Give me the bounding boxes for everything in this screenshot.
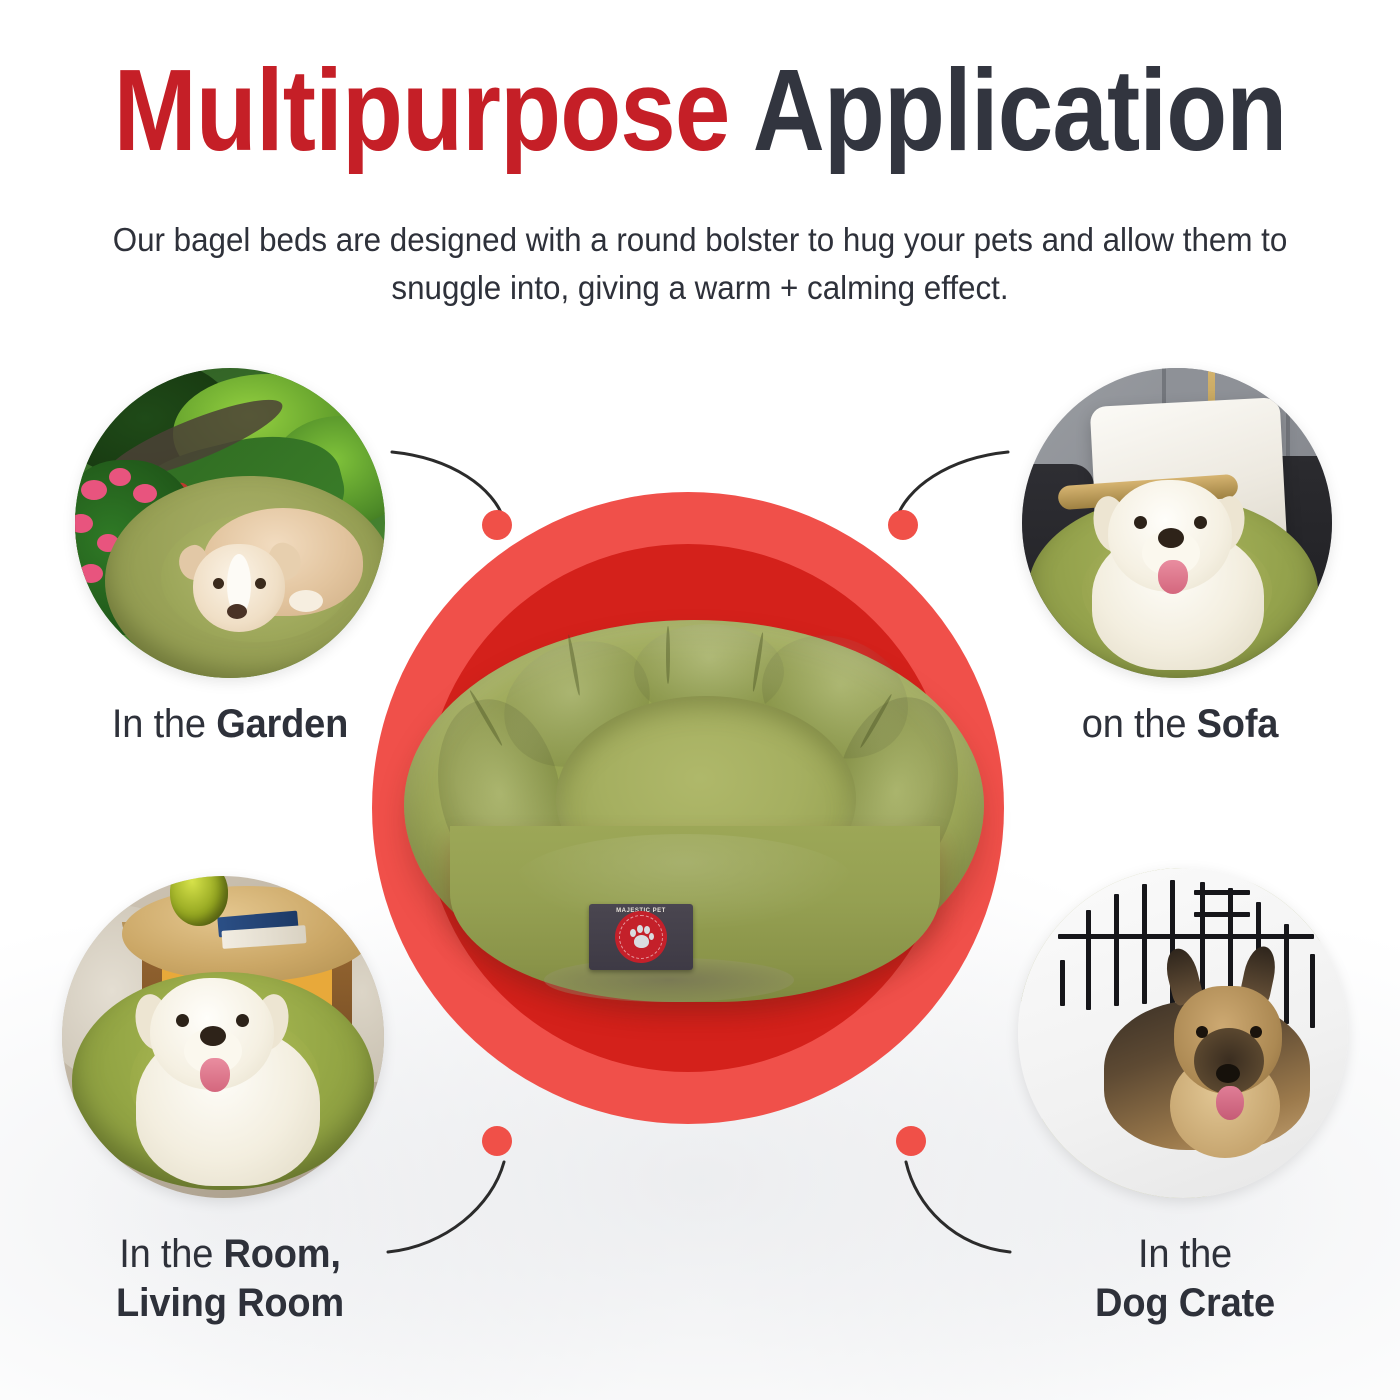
- bolster-crease: [666, 626, 670, 684]
- crate-bar: [1114, 894, 1119, 1006]
- title-secondary: Application: [753, 45, 1287, 175]
- photo-garden: [75, 368, 385, 678]
- label-living-regular: In the: [119, 1232, 223, 1276]
- garden-dog-nose: [227, 604, 247, 619]
- sofa-dog-eye: [1194, 516, 1207, 529]
- sofa-dog-nose: [1158, 528, 1184, 548]
- living-dog-tongue: [200, 1058, 230, 1092]
- label-sofa-bold: Sofa: [1197, 702, 1279, 746]
- living-dog-nose: [200, 1026, 226, 1046]
- product-hero-image: MAJESTIC PET: [404, 620, 984, 1020]
- label-garden-bold: Garden: [216, 702, 348, 746]
- brand-tag: MAJESTIC PET: [589, 904, 693, 970]
- garden-flower: [81, 480, 107, 500]
- label-garden-regular: In the: [112, 702, 216, 746]
- sofa-dog-eye: [1134, 516, 1147, 529]
- label-sofa-regular: on the: [1082, 702, 1197, 746]
- photo-living-room: [62, 876, 384, 1198]
- infographic-canvas: Multipurpose Application Our bagel beds …: [0, 0, 1400, 1400]
- crate-dog-eye: [1196, 1026, 1208, 1038]
- paw-print-icon: [628, 924, 654, 950]
- crate-crossbar: [1058, 934, 1314, 939]
- page-title: Multipurpose Application: [98, 52, 1302, 168]
- crate-connector-dot: [896, 1126, 926, 1156]
- crate-dog-tongue: [1216, 1086, 1244, 1120]
- crate-dog-eye: [1250, 1026, 1262, 1038]
- crate-bar: [1310, 954, 1315, 1028]
- label-crate-bold: Dog Crate: [1095, 1281, 1275, 1325]
- sofa-dog-tongue: [1158, 560, 1188, 594]
- crate-bar: [1284, 924, 1289, 1024]
- label-sofa: on the Sofa: [981, 700, 1380, 749]
- garden-connector-dot: [482, 510, 512, 540]
- crate-bar: [1060, 960, 1065, 1006]
- crate-bar: [1142, 884, 1147, 1004]
- garden-flower: [133, 484, 157, 503]
- living-dog-eye: [236, 1014, 249, 1027]
- crate-bar: [1086, 910, 1091, 1010]
- crate-crossbar: [1194, 890, 1250, 895]
- living-dog-eye: [176, 1014, 189, 1027]
- photo-dog-crate: [1018, 868, 1348, 1198]
- page-subtitle: Our bagel beds are designed with a round…: [102, 216, 1299, 312]
- living-connector-dot: [482, 1126, 512, 1156]
- garden-dog-eye: [213, 578, 224, 589]
- label-crate-regular: In the: [1138, 1232, 1232, 1276]
- sofa-connector-dot: [888, 510, 918, 540]
- photo-sofa: [1022, 368, 1332, 678]
- label-living-bold-2: Living Room: [116, 1281, 344, 1325]
- label-dog-crate: In the Dog Crate: [981, 1230, 1390, 1328]
- label-living-bold-1: Room,: [224, 1232, 341, 1276]
- crate-crossbar: [1194, 912, 1250, 917]
- crate-dog-nose: [1216, 1064, 1240, 1083]
- label-living-room: In the Room, Living Room: [21, 1230, 439, 1328]
- title-highlight: Multipurpose: [114, 45, 730, 175]
- brand-tag-emblem: [615, 911, 667, 963]
- garden-dog-paw: [289, 590, 323, 612]
- garden-flower: [109, 468, 131, 486]
- garden-flower: [79, 564, 103, 583]
- label-garden: In the Garden: [31, 700, 430, 749]
- garden-dog-eye: [255, 578, 266, 589]
- crate-dog-mask: [1194, 1028, 1264, 1094]
